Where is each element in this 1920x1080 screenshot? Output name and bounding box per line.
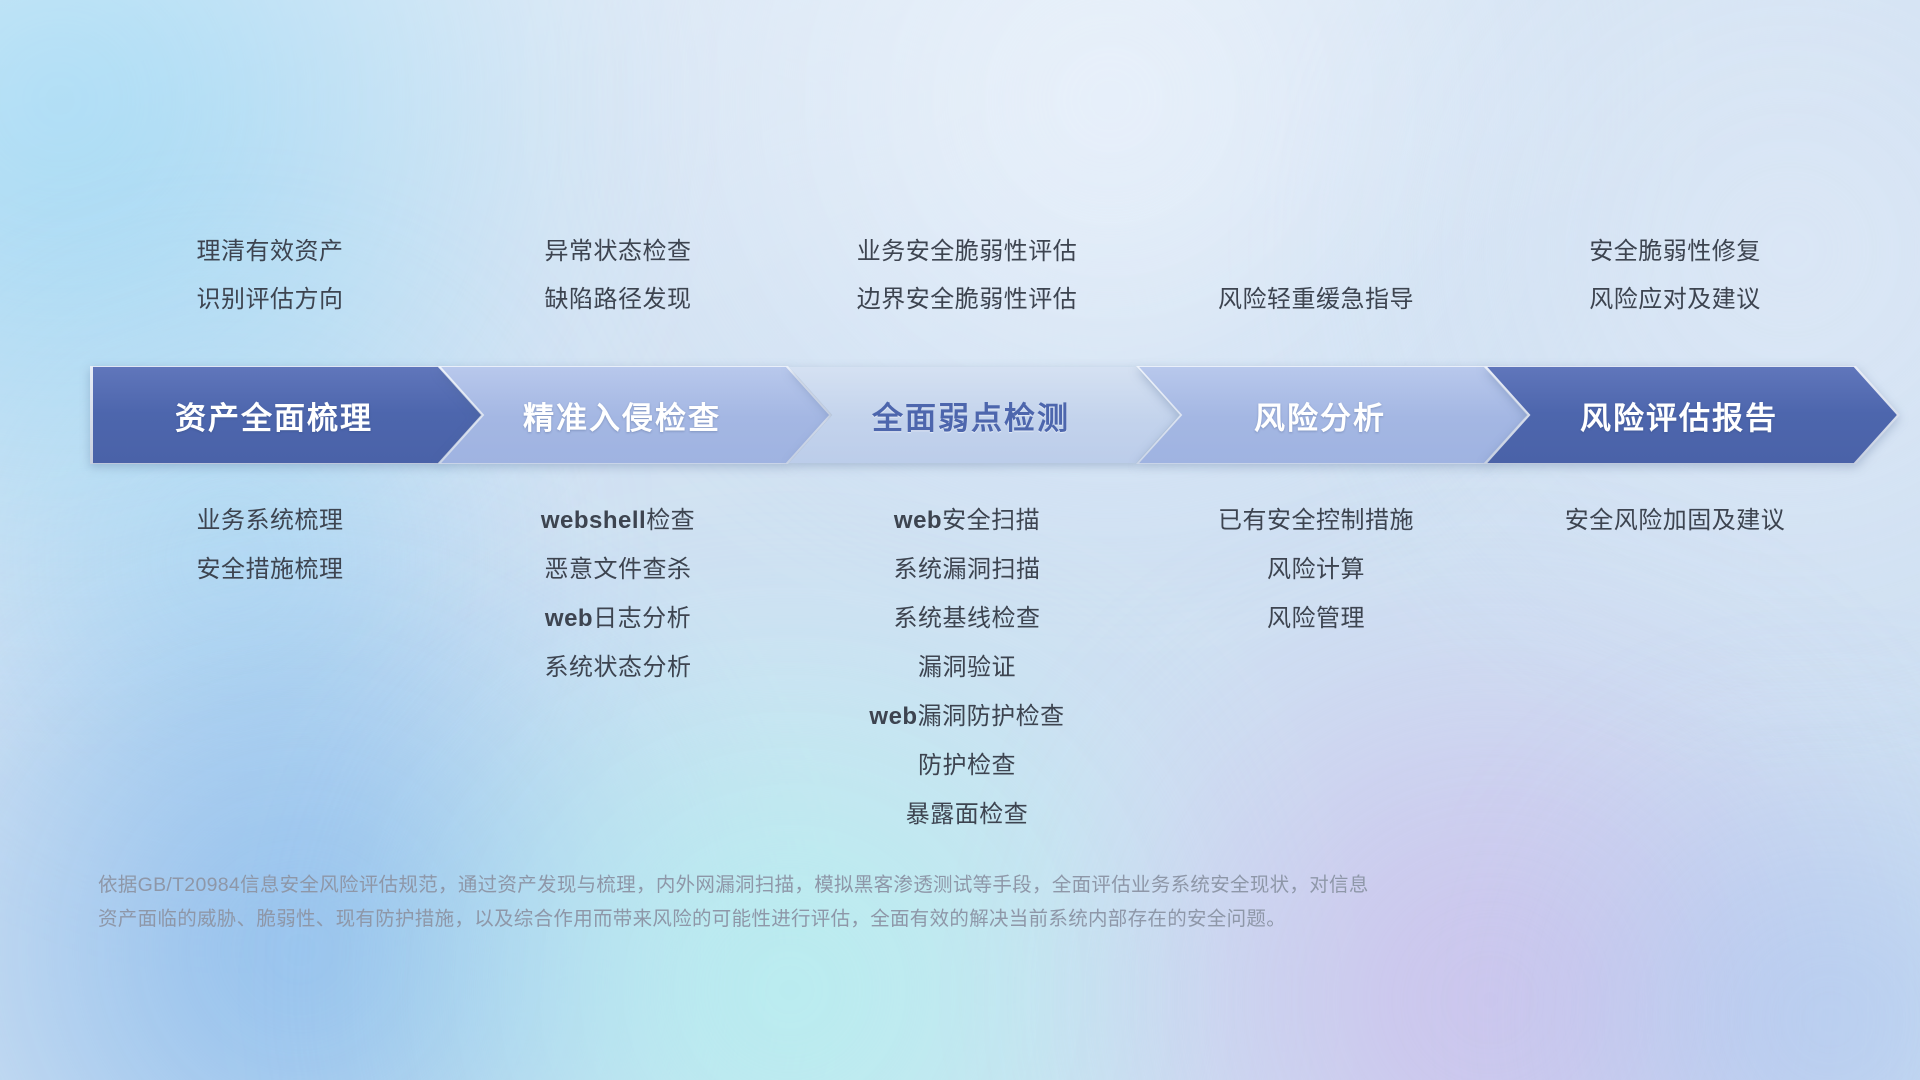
top-notes-risk-report: 安全脆弱性修复风险应对及建议 <box>1490 228 1860 324</box>
bottom-items-intrusion-check: webshell检查恶意文件查杀web日志分析系统状态分析 <box>444 496 792 839</box>
stage-arrow-risk-report[interactable]: 风险评估报告 <box>1484 366 1900 464</box>
stage-arrow-risk-analysis[interactable]: 风险分析 <box>1136 366 1530 464</box>
stage-arrow-label: 精准入侵检查 <box>523 393 721 438</box>
footer-line-1: 依据GB/T20984信息安全风险评估规范，通过资产发现与梳理，内外网漏洞扫描，… <box>98 868 1618 902</box>
bottom-item-text: 已有安全控制措施 <box>1218 507 1414 534</box>
bottom-item: 系统基线检查 <box>792 594 1142 643</box>
bottom-item: 漏洞验证 <box>792 643 1142 692</box>
bottom-item: web安全扫描 <box>792 496 1142 545</box>
top-note: 异常状态检查 <box>444 228 792 276</box>
bottom-items-weakness-detection: web安全扫描系统漏洞扫描系统基线检查漏洞验证web漏洞防护检查防护检查暴露面检… <box>792 496 1142 839</box>
bottom-item-prefix: web <box>545 605 593 632</box>
bottom-item: 恶意文件查杀 <box>444 545 792 594</box>
bottom-item: web漏洞防护检查 <box>792 692 1142 741</box>
top-notes-asset-review: 理清有效资产识别评估方向 <box>96 228 444 324</box>
bottom-item-text: 恶意文件查杀 <box>545 556 692 583</box>
bottom-item-text: 安全扫描 <box>942 507 1040 534</box>
bottom-item: 安全措施梳理 <box>96 545 444 594</box>
bottom-item: web日志分析 <box>444 594 792 643</box>
bottom-item: 风险管理 <box>1142 594 1490 643</box>
top-notes-weakness-detection: 业务安全脆弱性评估边界安全脆弱性评估 <box>792 228 1142 324</box>
bottom-item-text: 日志分析 <box>593 605 691 632</box>
top-note: 安全脆弱性修复 <box>1490 228 1860 276</box>
bottom-item-text: 系统状态分析 <box>545 654 692 681</box>
bottom-item: 安全风险加固及建议 <box>1490 496 1860 545</box>
top-note: 风险应对及建议 <box>1490 276 1860 324</box>
bottom-item-prefix: webshell <box>541 507 646 534</box>
footer-line-2: 资产面临的威胁、脆弱性、现有防护措施，以及综合作用而带来风险的可能性进行评估，全… <box>98 902 1618 936</box>
bottom-items-risk-analysis: 已有安全控制措施风险计算风险管理 <box>1142 496 1490 839</box>
stage-arrow-weakness-detection[interactable]: 全面弱点检测 <box>786 366 1182 464</box>
bottom-item: 防护检查 <box>792 741 1142 790</box>
bottom-items-row: 业务系统梳理安全措施梳理webshell检查恶意文件查杀web日志分析系统状态分… <box>96 496 1860 839</box>
stage-arrow-band: 资产全面梳理精准入侵检查全面弱点检测风险分析风险评估报告 <box>90 366 1900 464</box>
top-note: 风险轻重缓急指导 <box>1142 276 1490 324</box>
stage-arrow-asset-review[interactable]: 资产全面梳理 <box>90 366 484 464</box>
bottom-item: 系统漏洞扫描 <box>792 545 1142 594</box>
bottom-item: 系统状态分析 <box>444 643 792 692</box>
stage-arrow-label: 风险评估报告 <box>1580 393 1778 438</box>
bottom-item: 暴露面检查 <box>792 790 1142 839</box>
bottom-item-text: 业务系统梳理 <box>197 507 344 534</box>
stage-arrow-label: 风险分析 <box>1254 393 1386 438</box>
bottom-item-text: 漏洞防护检查 <box>918 703 1065 730</box>
stage-arrow-label: 资产全面梳理 <box>175 393 373 438</box>
bottom-item-text: 系统漏洞扫描 <box>894 556 1041 583</box>
top-note: 业务安全脆弱性评估 <box>792 228 1142 276</box>
bottom-item-prefix: web <box>894 507 942 534</box>
top-notes-risk-analysis: 风险轻重缓急指导 <box>1142 228 1490 324</box>
bottom-item-text: 安全风险加固及建议 <box>1565 507 1786 534</box>
bottom-item: 业务系统梳理 <box>96 496 444 545</box>
top-notes-row: 理清有效资产识别评估方向异常状态检查缺陷路径发现业务安全脆弱性评估边界安全脆弱性… <box>96 228 1860 324</box>
process-diagram: 理清有效资产识别评估方向异常状态检查缺陷路径发现业务安全脆弱性评估边界安全脆弱性… <box>0 0 1920 1080</box>
bottom-item-text: 风险计算 <box>1267 556 1365 583</box>
stage-arrow-label: 全面弱点检测 <box>872 393 1070 438</box>
top-note: 理清有效资产 <box>96 228 444 276</box>
bottom-item-text: 漏洞验证 <box>918 654 1016 681</box>
bottom-item-text: 系统基线检查 <box>894 605 1041 632</box>
top-note: 缺陷路径发现 <box>444 276 792 324</box>
bottom-item: 已有安全控制措施 <box>1142 496 1490 545</box>
bottom-item-text: 防护检查 <box>918 752 1016 779</box>
bottom-item-text: 安全措施梳理 <box>197 556 344 583</box>
bottom-item: 风险计算 <box>1142 545 1490 594</box>
stage-arrow-intrusion-check[interactable]: 精准入侵检查 <box>438 366 832 464</box>
bottom-item-text: 暴露面检查 <box>906 801 1029 828</box>
bottom-items-risk-report: 安全风险加固及建议 <box>1490 496 1860 839</box>
top-note: 识别评估方向 <box>96 276 444 324</box>
bottom-item-text: 风险管理 <box>1267 605 1365 632</box>
bottom-item-prefix: web <box>869 703 917 730</box>
top-notes-intrusion-check: 异常状态检查缺陷路径发现 <box>444 228 792 324</box>
bottom-item: webshell检查 <box>444 496 792 545</box>
footer-description: 依据GB/T20984信息安全风险评估规范，通过资产发现与梳理，内外网漏洞扫描，… <box>98 868 1618 936</box>
bottom-item-text: 检查 <box>646 507 695 534</box>
top-note: 边界安全脆弱性评估 <box>792 276 1142 324</box>
bottom-items-asset-review: 业务系统梳理安全措施梳理 <box>96 496 444 839</box>
